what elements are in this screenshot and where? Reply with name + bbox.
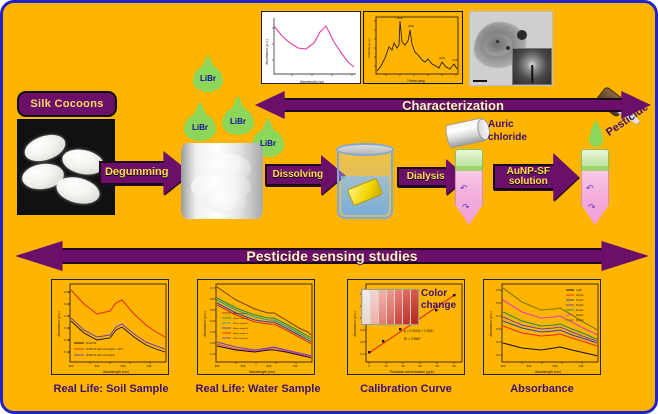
soil-sample-plot: 0.250.220.19 0.160.130.10 400500 600700 … — [51, 279, 169, 375]
svg-text:0.1: 0.1 — [360, 352, 364, 356]
uv-vis-panel: Wavelength (nm) Absorbance (a.u.) — [261, 11, 361, 84]
svg-text:0.5: 0.5 — [210, 308, 214, 312]
svg-text:500: 500 — [241, 364, 246, 368]
auric-chloride-line1: Auric — [488, 119, 514, 130]
aunp-sf-tube: ↶ ↷ — [455, 149, 483, 225]
svg-text:0.13: 0.13 — [64, 338, 70, 342]
caption-absorbance: Absorbance — [487, 383, 597, 395]
svg-text:0.6: 0.6 — [496, 288, 500, 292]
svg-text:600: 600 — [121, 364, 126, 368]
svg-text:600: 600 — [267, 364, 272, 368]
water-sample-plot: 0.70.60.5 0.40.30.2 0.1 400500 600700 Wa… — [197, 279, 315, 375]
svg-text:0.10: 0.10 — [64, 350, 70, 354]
auric-chloride-line2: chloride — [488, 132, 527, 143]
svg-text:2 theta (deg): 2 theta (deg) — [407, 79, 425, 83]
svg-text:(311): (311) — [452, 58, 458, 62]
svg-text:600: 600 — [553, 364, 558, 368]
svg-text:R² = 0.9887: R² = 0.9887 — [404, 337, 421, 341]
svg-text:400: 400 — [69, 364, 74, 368]
svg-text:Wavelength (nm): Wavelength (nm) — [249, 370, 275, 374]
svg-text:60 ppb: 60 ppb — [576, 319, 584, 322]
saed-inset — [512, 48, 552, 85]
auric-chloride-vial — [444, 117, 488, 149]
svg-text:400: 400 — [501, 364, 506, 368]
dissolving-beaker — [337, 149, 393, 219]
xrd-panel: (111) (200) (220) (311) 2 theta (deg) In… — [363, 11, 463, 84]
svg-text:(200): (200) — [408, 24, 414, 28]
svg-text:0.3: 0.3 — [496, 327, 500, 331]
characterization-banner: Characterization — [255, 91, 651, 119]
svg-text:Water sample 1: Water sample 1 — [233, 312, 249, 315]
characterization-label: Characterization — [255, 91, 651, 119]
auric-chloride-label: Auric chloride — [488, 118, 550, 144]
svg-text:30: 30 — [418, 364, 422, 368]
degumming-label: Degumming — [105, 167, 185, 179]
svg-text:0.16: 0.16 — [64, 326, 70, 330]
pesticide-droplet — [589, 129, 603, 147]
tem-panel — [469, 11, 553, 86]
graphical-abstract: Silk Cocoons Degumming LiBr LiBr LiBr Li… — [0, 0, 658, 414]
svg-text:30 ppb: 30 ppb — [576, 304, 584, 307]
svg-text:50 ppb: 50 ppb — [576, 314, 584, 317]
libr-droplet-3: LiBr — [222, 107, 254, 135]
svg-text:Water sample 6: Water sample 6 — [233, 337, 249, 340]
svg-text:Absorbance (a.u.): Absorbance (a.u.) — [265, 39, 269, 64]
libr-droplet-2: LiBr — [184, 113, 216, 141]
sensing-label: Pesticide sensing studies — [15, 241, 649, 271]
dissolving-label: Dissolving — [273, 170, 338, 181]
svg-text:40 ppb: 40 ppb — [576, 309, 584, 312]
svg-text:0.4: 0.4 — [496, 314, 500, 318]
svg-text:40: 40 — [435, 364, 439, 368]
svg-text:AuNP-SF with soil sample + CPS: AuNP-SF with soil sample + CPS — [86, 348, 123, 351]
libr-label: LiBr — [260, 139, 276, 148]
svg-text:50: 50 — [452, 364, 456, 368]
absorbance-plot: 0.60.50.4 0.30.20.1 400500 600700 Wavele… — [483, 279, 601, 375]
svg-text:0.6: 0.6 — [210, 297, 214, 301]
caption-calibration-curve: Calibration Curve — [343, 383, 469, 395]
svg-text:(111): (111) — [397, 16, 403, 20]
libr-droplet-1: LiBr — [193, 65, 223, 92]
svg-text:AuNP-SF: AuNP-SF — [86, 342, 97, 345]
svg-text:Absorbance (a.u.): Absorbance (a.u.) — [203, 311, 207, 336]
svg-text:Pesticide concentration (ppb): Pesticide concentration (ppb) — [390, 370, 434, 374]
svg-text:0.1: 0.1 — [496, 353, 500, 357]
svg-text:0.3: 0.3 — [210, 330, 214, 334]
libr-label: LiBr — [230, 117, 246, 126]
color-change-line1: Color — [421, 288, 447, 299]
caption-soil-sample: Real Life: Soil Sample — [41, 383, 181, 395]
svg-text:Water sample 4: Water sample 4 — [233, 327, 249, 330]
svg-text:0 ppb: 0 ppb — [576, 289, 583, 292]
caption-water-sample: Real Life: Water Sample — [185, 383, 331, 395]
silk-cocoons-label: Silk Cocoons — [17, 91, 117, 117]
svg-text:Water sample 3: Water sample 3 — [233, 322, 249, 325]
svg-text:0.3: 0.3 — [360, 328, 364, 332]
svg-text:10 ppb: 10 ppb — [576, 294, 584, 297]
color-change-photo — [361, 289, 419, 325]
libr-label: LiBr — [192, 123, 208, 132]
dialysis-label: Dialysis — [407, 172, 457, 183]
svg-text:0.2: 0.2 — [210, 341, 214, 345]
aunp-sf-arrow: AuNP-SFsolution — [493, 153, 579, 201]
final-sensing-tube: ↶ ↷ — [581, 149, 609, 225]
svg-text:500: 500 — [95, 364, 100, 368]
svg-text:Wavelength (nm): Wavelength (nm) — [300, 80, 324, 84]
svg-text:0.19: 0.19 — [64, 314, 70, 318]
svg-text:700: 700 — [293, 364, 298, 368]
svg-text:20: 20 — [401, 364, 405, 368]
svg-text:0.25: 0.25 — [64, 290, 70, 294]
svg-text:Intensity (a.u.): Intensity (a.u.) — [367, 38, 371, 57]
svg-text:0.2: 0.2 — [360, 340, 364, 344]
svg-text:(220): (220) — [439, 56, 445, 60]
degumming-arrow: Degumming — [99, 151, 191, 195]
tem-scalebar — [473, 80, 487, 82]
svg-text:Absorbance (a.u.): Absorbance (a.u.) — [489, 311, 493, 336]
svg-text:y = 0.0104x + 0.0041: y = 0.0104x + 0.0041 — [404, 329, 434, 333]
svg-text:400: 400 — [215, 364, 220, 368]
sensing-banner: Pesticide sensing studies — [15, 241, 649, 271]
svg-text:Water sample 2: Water sample 2 — [233, 317, 249, 320]
color-change-label: Color change — [421, 288, 467, 312]
svg-text:500: 500 — [527, 364, 532, 368]
degummed-silk — [181, 143, 263, 219]
svg-text:20 ppb: 20 ppb — [576, 299, 584, 302]
svg-text:0.5: 0.5 — [496, 301, 500, 305]
libr-label: LiBr — [200, 74, 216, 83]
svg-text:700: 700 — [147, 364, 152, 368]
svg-text:Water sample 5: Water sample 5 — [233, 332, 249, 335]
svg-text:Absorbance (a.u.): Absorbance (a.u.) — [353, 311, 357, 336]
svg-text:Wavelength (nm): Wavelength (nm) — [535, 370, 561, 374]
svg-text:0.1: 0.1 — [210, 352, 214, 356]
svg-text:AuNP-SF with soil sample: AuNP-SF with soil sample — [86, 354, 116, 357]
svg-text:Wavelength (nm): Wavelength (nm) — [103, 370, 129, 374]
svg-text:0.4: 0.4 — [210, 319, 214, 323]
dissolving-arrow: Dissolving — [265, 155, 345, 195]
svg-text:Absorbance (a.u.): Absorbance (a.u.) — [57, 311, 61, 336]
svg-text:10: 10 — [384, 364, 388, 368]
svg-text:0.7: 0.7 — [210, 286, 214, 290]
aunp-sf-label: AuNP-SFsolution — [507, 167, 566, 188]
svg-text:0.2: 0.2 — [496, 340, 500, 344]
color-change-line2: change — [421, 300, 456, 311]
svg-text:700: 700 — [579, 364, 584, 368]
svg-text:0.22: 0.22 — [64, 302, 70, 306]
svg-text:0: 0 — [368, 364, 370, 368]
